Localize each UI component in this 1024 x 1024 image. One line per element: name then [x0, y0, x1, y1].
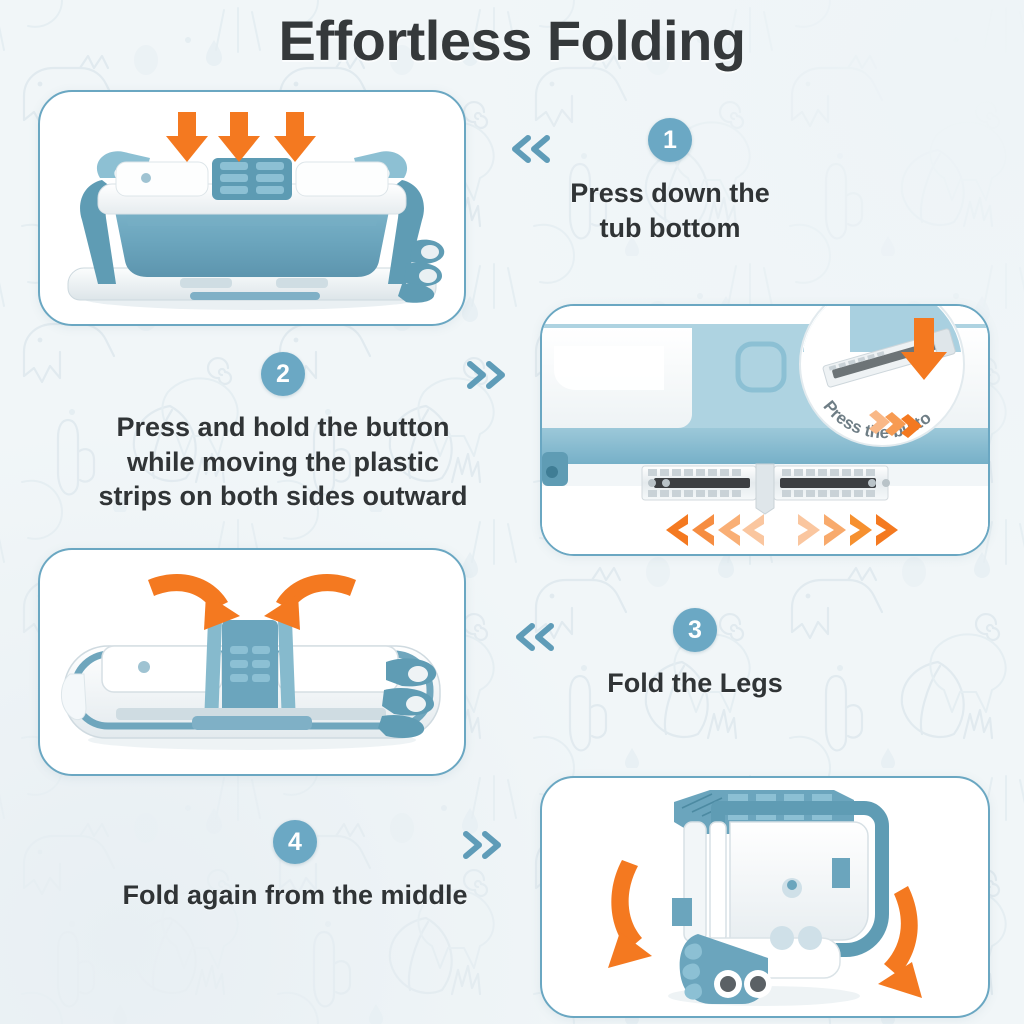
step-3-block: 3 Fold the Legs: [540, 608, 850, 701]
step-2-photo-card: Press the button: [540, 304, 990, 556]
step-2-text-line-3: strips on both sides outward: [46, 479, 520, 514]
orange-curved-arrow-left-4: [608, 860, 652, 968]
photo-flattened-tub: [40, 550, 464, 774]
step-2-text-line-1: Press and hold the button: [46, 410, 520, 445]
step-2-text-line-2: while moving the plastic: [46, 445, 520, 480]
step-4-text-line-1: Fold again from the middle: [66, 878, 524, 913]
photo-open-tub: [40, 92, 464, 324]
photo-folded-bundle: [542, 778, 988, 1016]
step-1-text-line-1: Press down the: [520, 176, 820, 211]
photo-release-button-closeup: Press the button: [542, 306, 988, 554]
step-4-text: Fold again from the middle: [66, 878, 524, 913]
step-1-text-line-2: tub bottom: [520, 211, 820, 246]
orange-curved-arrow-right: [264, 574, 356, 630]
orange-down-arrow: [166, 112, 316, 162]
step-4-badge: 4: [273, 820, 317, 864]
step-1-photo-card: [38, 90, 466, 326]
step-2-block: 2 Press and hold the button while moving…: [46, 352, 520, 514]
step-4-photo-card: [540, 776, 990, 1018]
step-4-block: 4 Fold again from the middle: [66, 820, 524, 913]
step-3-photo-card: [38, 548, 466, 776]
step-1-block: 1 Press down the tub bottom: [520, 118, 820, 245]
step-3-badge: 3: [673, 608, 717, 652]
step-3-text-line-1: Fold the Legs: [540, 666, 850, 701]
page-title: Effortless Folding: [0, 8, 1024, 73]
step-2-badge: 2: [261, 352, 305, 396]
step-1-text: Press down the tub bottom: [520, 176, 820, 245]
infographic-stage: Effortless Folding: [0, 0, 1024, 1024]
step-3-text: Fold the Legs: [540, 666, 850, 701]
step-1-badge: 1: [648, 118, 692, 162]
step-2-text: Press and hold the button while moving t…: [46, 410, 520, 514]
